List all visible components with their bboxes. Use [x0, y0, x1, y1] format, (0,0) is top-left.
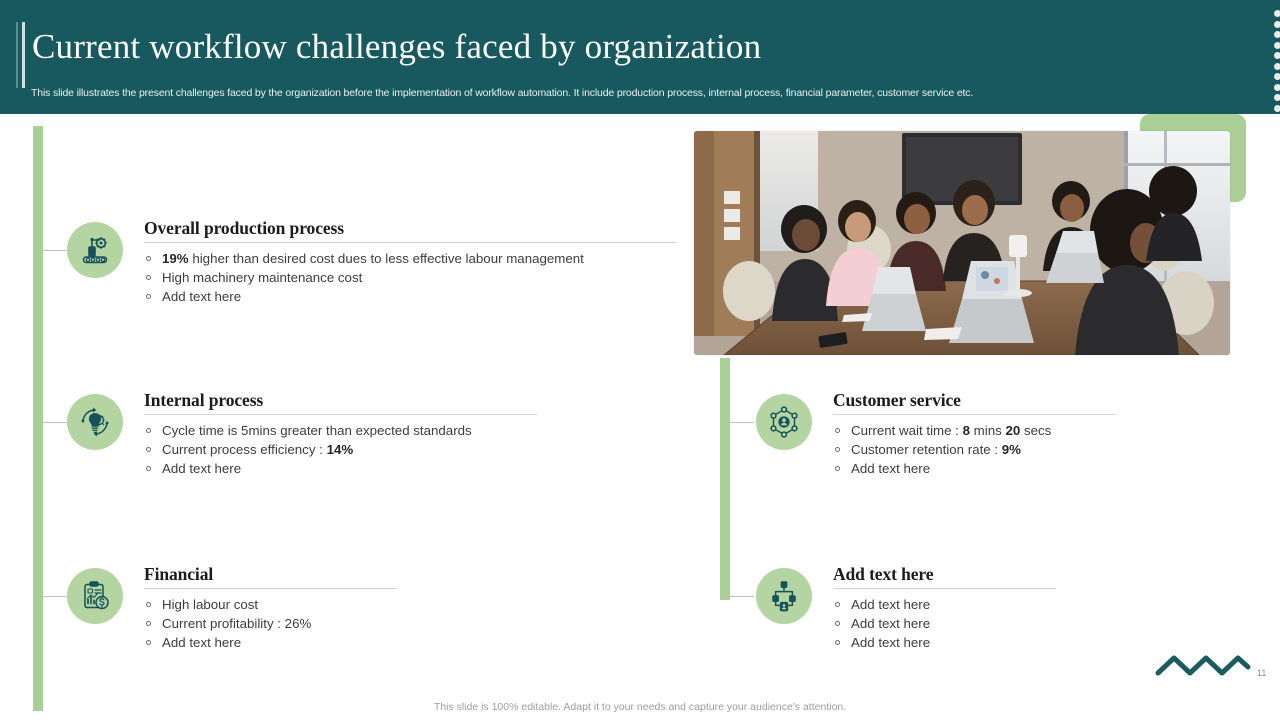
connector-line-5 — [730, 596, 754, 597]
bullet-text: Current wait time : — [851, 423, 963, 438]
bullet-emphasis: 8 — [963, 423, 970, 438]
org-hierarchy-icon — [756, 568, 812, 624]
title-underline — [144, 242, 677, 243]
decorative-dot — [1274, 94, 1280, 101]
page-number: 11 — [1257, 668, 1266, 678]
bullet-ring-icon — [146, 428, 151, 433]
list-item: Customer retention rate : 9% — [833, 440, 1116, 459]
bullet-ring-icon — [835, 428, 840, 433]
page-title: Current workflow challenges faced by org… — [32, 27, 761, 67]
decorative-dot — [1274, 73, 1280, 80]
title-underline — [144, 588, 397, 589]
slide-header: Current workflow challenges faced by org… — [0, 0, 1280, 114]
bullet-ring-icon — [146, 275, 151, 280]
list-item: Add text here — [144, 287, 677, 306]
bullet-text: Add text here — [162, 461, 241, 476]
right-timeline-rail — [720, 358, 730, 600]
bullet-ring-icon — [146, 447, 151, 452]
bullet-ring-icon — [146, 621, 151, 626]
title-accent-bar-outer — [16, 22, 18, 88]
bullet-ring-icon — [835, 640, 840, 645]
bullet-emphasis-2: 20 — [1005, 423, 1020, 438]
bullet-ring-icon — [146, 640, 151, 645]
bullet-ring-icon — [835, 466, 840, 471]
connector-line-3 — [43, 596, 67, 597]
meeting-photo — [694, 131, 1230, 355]
bullet-list: Cycle time is 5mins greater than expecte… — [144, 421, 537, 478]
block-title: Customer service — [833, 390, 1116, 411]
bullet-text: Current profitability : 26% — [162, 616, 311, 631]
zigzag-icon — [1155, 652, 1251, 685]
clipboard-chart-dollar-icon — [67, 568, 123, 624]
bullet-text: Customer retention rate : — [851, 442, 1002, 457]
decorative-dot — [1274, 21, 1280, 28]
list-item: 19% higher than desired cost dues to les… — [144, 249, 677, 268]
footer-note: This slide is 100% editable. Adapt it to… — [0, 701, 1280, 713]
title-underline — [144, 414, 537, 415]
bullet-emphasis: 14% — [327, 442, 354, 457]
connector-line-4 — [730, 422, 754, 423]
title-underline — [833, 414, 1116, 415]
bullet-text: High labour cost — [162, 597, 258, 612]
decorative-dot — [1274, 63, 1280, 70]
list-item: Current process efficiency : 14% — [144, 440, 537, 459]
decorative-dot — [1274, 84, 1280, 91]
bullet-list: 19% higher than desired cost dues to les… — [144, 249, 677, 306]
bullet-text: Cycle time is 5mins greater than expecte… — [162, 423, 472, 438]
bullet-emphasis: 9% — [1002, 442, 1021, 457]
title-accent-bar — [22, 22, 25, 88]
block-title: Add text here — [833, 564, 1056, 585]
bullet-list: High labour cost Current profitability :… — [144, 595, 397, 652]
bullet-list: Add text here Add text here Add text her… — [833, 595, 1056, 652]
list-item: Current wait time : 8 mins 20 secs — [833, 421, 1116, 440]
list-item: Add text here — [144, 633, 397, 652]
connector-line-2 — [43, 422, 67, 423]
bullet-text-3: secs — [1020, 423, 1051, 438]
decorative-dot — [1274, 31, 1280, 38]
list-item: Add text here — [833, 614, 1056, 633]
bullet-ring-icon — [146, 256, 151, 261]
bullet-ring-icon — [835, 621, 840, 626]
slide-subtitle: This slide illustrates the present chall… — [31, 87, 1191, 99]
bullet-text: Add text here — [162, 289, 241, 304]
list-item: Add text here — [144, 459, 537, 478]
list-item: Cycle time is 5mins greater than expecte… — [144, 421, 537, 440]
bullet-text: higher than desired cost dues to less ef… — [189, 251, 584, 266]
bullet-text: Add text here — [851, 597, 930, 612]
list-item: Current profitability : 26% — [144, 614, 397, 633]
list-item: Add text here — [833, 595, 1056, 614]
bullet-text: Add text here — [851, 635, 930, 650]
block-title: Overall production process — [144, 218, 677, 239]
bullet-text: High machinery maintenance cost — [162, 270, 362, 285]
customer-network-icon — [756, 394, 812, 450]
decorative-dot — [1274, 42, 1280, 49]
bullet-text: Current process efficiency : — [162, 442, 327, 457]
bullet-text-2: mins — [970, 423, 1005, 438]
bullet-ring-icon — [146, 466, 151, 471]
bullet-ring-icon — [146, 294, 151, 299]
bullet-ring-icon — [146, 602, 151, 607]
list-item: Add text here — [833, 633, 1056, 652]
decorative-dot — [1274, 10, 1280, 17]
bullet-ring-icon — [835, 447, 840, 452]
decorative-dot — [1274, 105, 1280, 112]
bullet-text: Add text here — [162, 635, 241, 650]
bullet-emphasis: 19% — [162, 251, 189, 266]
robot-arm-conveyor-icon — [67, 222, 123, 278]
bullet-text: Add text here — [851, 616, 930, 631]
block-title: Internal process — [144, 390, 537, 411]
block-title: Financial — [144, 564, 397, 585]
title-underline — [833, 588, 1056, 589]
connector-line-1 — [43, 250, 67, 251]
bullet-list: Current wait time : 8 mins 20 secs Custo… — [833, 421, 1116, 478]
bullet-text: Add text here — [851, 461, 930, 476]
lightbulb-gear-cycle-icon — [67, 394, 123, 450]
list-item: High labour cost — [144, 595, 397, 614]
list-item: High machinery maintenance cost — [144, 268, 677, 287]
list-item: Add text here — [833, 459, 1116, 478]
decorative-dot — [1274, 52, 1280, 59]
left-timeline-rail — [33, 126, 43, 711]
bullet-ring-icon — [835, 602, 840, 607]
